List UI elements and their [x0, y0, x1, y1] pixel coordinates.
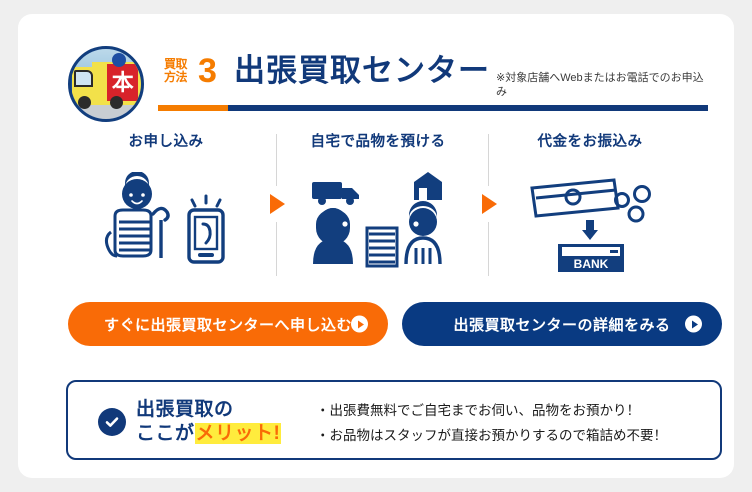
method-badge-number: 3: [198, 54, 217, 88]
view-details-button[interactable]: 出張買取センターの詳細をみる: [402, 302, 722, 346]
list-item: ・出張費無料でご自宅までお伺い、品物をお預かり！: [316, 398, 711, 423]
play-circle-icon: [685, 316, 702, 333]
step-divider: [276, 222, 277, 276]
merit-list: ・出張費無料でご自宅までお伺い、品物をお預かり！ ・お品物はスタッフが直接お預か…: [316, 398, 711, 448]
truck-photo-character: 本: [112, 72, 134, 94]
merit-heading-line1: 出張買取の: [136, 398, 281, 422]
step-1: お申し込み: [68, 126, 264, 286]
merit-heading-highlight: メリット!: [195, 423, 282, 444]
step-1-title: お申し込み: [68, 130, 264, 151]
check-circle-icon: [98, 408, 126, 436]
method-badge-line2: 方法: [164, 71, 187, 84]
view-details-button-label: 出張買取センターの詳細をみる: [453, 314, 670, 335]
step-divider: [276, 134, 277, 186]
truck-handover-icon: [280, 166, 476, 278]
person-with-phone-icon: [68, 166, 264, 278]
section-header: 本 買取 方法 3 出張買取センター ※対象店舗へWebまたはお電話でのお申込み: [48, 32, 708, 120]
cta-row: すぐに出張買取センターへ申し込む 出張買取センターの詳細をみる: [48, 288, 708, 344]
steps-flow: お申し込み: [48, 126, 708, 286]
bank-card-label: BANK: [574, 257, 609, 271]
merit-heading: 出張買取の ここがメリット!: [136, 398, 281, 446]
method-badge-label: 買取 方法: [164, 58, 187, 84]
step-3: 代金をお振込み: [492, 126, 688, 286]
merit-heading-prefix: ここが: [136, 423, 195, 444]
apply-now-button-label: すぐに出張買取センターへ申し込む: [104, 314, 352, 335]
title-note: ※対象店舗へWebまたはお電話でのお申込み: [496, 71, 708, 99]
step-divider: [488, 222, 489, 276]
header-rule: [158, 105, 708, 111]
play-circle-icon: [351, 316, 368, 333]
list-item: ・お品物はスタッフが直接お預かりするので箱詰め不要！: [316, 423, 711, 448]
merit-heading-line2: ここがメリット!: [136, 422, 281, 446]
step-2: 自宅で品物を預ける: [280, 126, 476, 286]
step-divider: [488, 134, 489, 186]
step-3-title: 代金をお振込み: [492, 130, 688, 151]
bank-transfer-icon: BANK: [492, 166, 688, 278]
truck-photo: 本: [68, 46, 144, 122]
merit-box: 出張買取の ここがメリット! ・出張費無料でご自宅までお伺い、品物をお預かり！ …: [66, 380, 722, 460]
page-title: 出張買取センター: [234, 52, 490, 90]
step-2-title: 自宅で品物を預ける: [280, 130, 476, 151]
apply-now-button[interactable]: すぐに出張買取センターへ申し込む: [68, 302, 388, 346]
promo-card: 本 買取 方法 3 出張買取センター ※対象店舗へWebまたはお電話でのお申込み: [18, 14, 734, 478]
